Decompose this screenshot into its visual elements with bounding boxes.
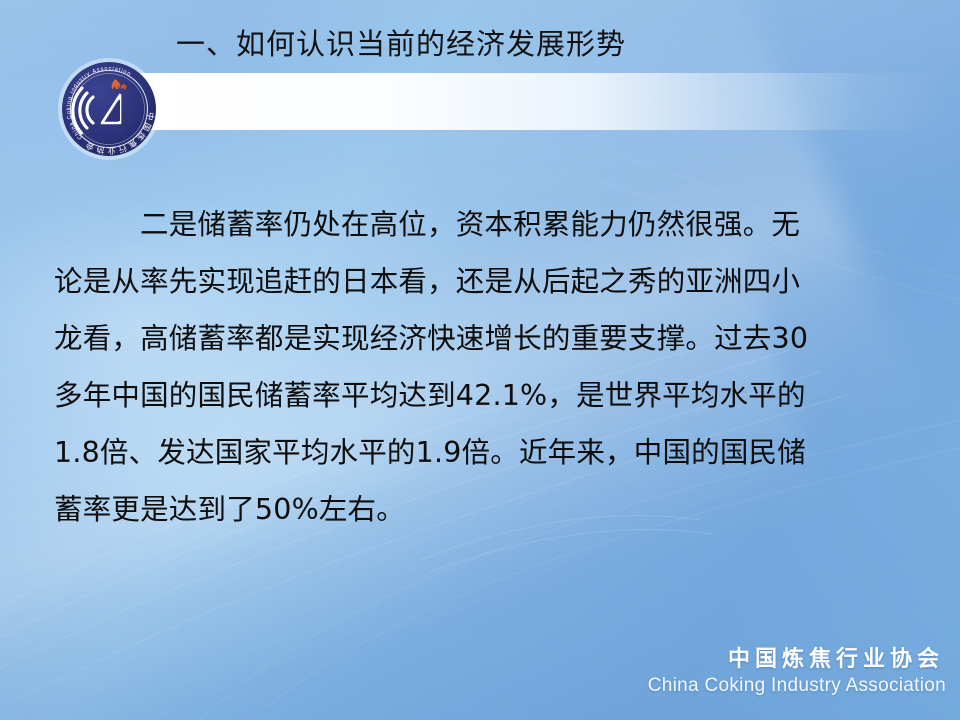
association-logo-icon: 中国炼焦行业协会 China Coking Industry Associati… <box>57 57 161 161</box>
body-line: 1.8倍、发达国家平均水平的1.9倍。近年来，中国的国民储 <box>54 424 910 481</box>
brand-name-en: China Coking Industry Association <box>648 674 946 698</box>
title-band <box>138 73 944 130</box>
body-line: 多年中国的国民储蓄率平均达到42.1%，是世界平均水平的 <box>54 367 910 424</box>
page-title: 一、如何认识当前的经济发展形势 <box>176 20 626 68</box>
brand-name-cn: 中国炼焦行业协会 <box>648 646 946 674</box>
presentation-slide: 一、如何认识当前的经济发展形势 中国炼焦行业协会 China Coking In… <box>0 0 960 720</box>
body-line: 蓄率更是达到了50%左右。 <box>54 481 910 538</box>
body-line: 论是从率先实现追赶的日本看，还是从后起之秀的亚洲四小 <box>54 253 910 310</box>
footer-brand: 中国炼焦行业协会 China Coking Industry Associati… <box>648 646 946 698</box>
body-line: 二是储蓄率仍处在高位，资本积累能力仍然很强。无 <box>54 196 910 253</box>
slide-body-text: 二是储蓄率仍处在高位，资本积累能力仍然很强。无 论是从率先实现追赶的日本看，还是… <box>54 196 910 538</box>
body-line: 龙看，高储蓄率都是实现经济快速增长的重要支撑。过去30 <box>54 310 910 367</box>
